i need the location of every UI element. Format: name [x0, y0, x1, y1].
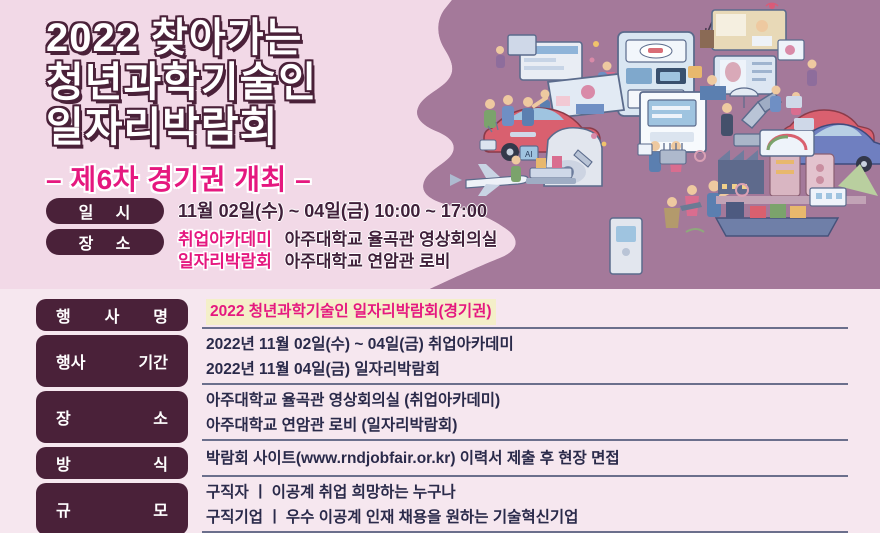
- title-line-3: 일자리박람회: [46, 107, 560, 149]
- label-char: 방: [56, 451, 71, 475]
- label-char: 행사: [56, 349, 85, 373]
- poster-hero: AI: [0, 0, 880, 289]
- row-line: 아주대학교 연암관 로비 (일자리박람회): [206, 414, 848, 438]
- label-char: 시: [116, 199, 132, 223]
- table-row: 행사 기간 2022년 11월 02일(수) ~ 04일(금) 취업아카데미 2…: [36, 333, 848, 389]
- label-char: 사: [105, 303, 120, 327]
- hero-date-value: 11월 02일(수) ~ 04일(금) 10:00 ~ 17:00: [178, 198, 487, 224]
- row-value-event-period: 2022년 11월 02일(수) ~ 04일(금) 취업아카데미 2022년 1…: [202, 333, 848, 385]
- label-char: 명: [153, 303, 168, 327]
- hero-venue-line: 일자리박람회 아주대학교 연암관 로비: [178, 251, 497, 273]
- label-char: 소: [153, 405, 168, 429]
- row-value-method: 박람회 사이트(www.rndjobfair.or.kr) 이력서 제출 후 현…: [202, 445, 848, 477]
- row-label-location: 장 소: [36, 391, 188, 443]
- row-line: 박람회 사이트(www.rndjobfair.or.kr) 이력서 제출 후 현…: [206, 447, 848, 471]
- table-row: 행 사 명 2022 청년과학기술인 일자리박람회(경기권): [36, 297, 848, 333]
- row-label-scale: 규 모: [36, 483, 188, 533]
- row-label-method: 방 식: [36, 447, 188, 479]
- row-label-event-name: 행 사 명: [36, 299, 188, 331]
- label-char: 모: [153, 497, 168, 521]
- hero-info-block: 일 시 11월 02일(수) ~ 04일(금) 10:00 ~ 17:00 장 …: [46, 198, 497, 278]
- table-row: 장 소 아주대학교 율곡관 영상회의실 (취업아카데미) 아주대학교 연암관 로…: [36, 389, 848, 445]
- title-line-2: 청년과학기술인: [46, 62, 560, 104]
- label-char: 장: [56, 405, 71, 429]
- scene-kiosk-tower: [610, 218, 642, 274]
- row-value-scale: 구직자 ㅣ 이공계 취업 희망하는 누구나 구직기업 ㅣ 우수 이공계 인재 채…: [202, 481, 848, 533]
- table-row: 규 모 구직자 ㅣ 이공계 취업 희망하는 누구나 구직기업 ㅣ 우수 이공계 …: [36, 481, 848, 533]
- row-value-event-name: 2022 청년과학기술인 일자리박람회(경기권): [202, 297, 848, 329]
- hero-venue-line: 취업아카데미 아주대학교 율곡관 영상회의실: [178, 229, 497, 251]
- label-char: 소: [116, 230, 132, 254]
- hero-info-row-date: 일 시 11월 02일(수) ~ 04일(금) 10:00 ~ 17:00: [46, 198, 497, 224]
- row-line: 2022년 11월 02일(수) ~ 04일(금) 취업아카데미: [206, 333, 848, 357]
- title-subtitle: – 제6차 경기권 개최 –: [46, 158, 560, 198]
- row-value-location: 아주대학교 율곡관 영상회의실 (취업아카데미) 아주대학교 연암관 로비 (일…: [202, 389, 848, 441]
- label-char: 행: [56, 303, 71, 327]
- label-pill-venue: 장 소: [46, 229, 164, 255]
- row-line: 아주대학교 율곡관 영상회의실 (취업아카데미): [206, 389, 848, 413]
- scene-video-call-doctor-screen: [700, 3, 786, 50]
- label-char: 식: [153, 451, 168, 475]
- venue-tag: 일자리박람회: [178, 252, 272, 271]
- event-poster: AI: [0, 0, 880, 533]
- row-label-event-period: 행사 기간: [36, 335, 188, 387]
- label-char: 기간: [139, 349, 168, 373]
- row-line: 2022 청년과학기술인 일자리박람회(경기권): [206, 299, 496, 325]
- details-table: 행 사 명 2022 청년과학기술인 일자리박람회(경기권) 행사 기간 202…: [0, 289, 880, 533]
- label-pill-date: 일 시: [46, 198, 164, 224]
- venue-text: 아주대학교 연암관 로비: [285, 252, 451, 271]
- label-char: 장: [79, 230, 95, 254]
- hero-info-row-venue: 장 소 취업아카데미 아주대학교 율곡관 영상회의실 일자리박람회 아주대학교 …: [46, 229, 497, 273]
- table-row: 방 식 박람회 사이트(www.rndjobfair.or.kr) 이력서 제출…: [36, 445, 848, 481]
- venue-text: 아주대학교 율곡관 영상회의실: [285, 230, 498, 249]
- row-line: 구직기업 ㅣ 우수 이공계 인재 채용을 원하는 기술혁신기업: [206, 506, 848, 530]
- hero-venue-lines: 취업아카데미 아주대학교 율곡관 영상회의실 일자리박람회 아주대학교 연암관 …: [178, 229, 497, 273]
- row-line: 구직자 ㅣ 이공계 취업 희망하는 누구나: [206, 481, 848, 505]
- label-char: 규: [56, 497, 71, 521]
- title-line-1: 2022 찾아가는: [46, 18, 560, 59]
- label-char: 일: [79, 199, 95, 223]
- row-line: 2022년 11월 04일(금) 일자리박람회: [206, 358, 848, 382]
- venue-tag: 취업아카데미: [178, 230, 272, 249]
